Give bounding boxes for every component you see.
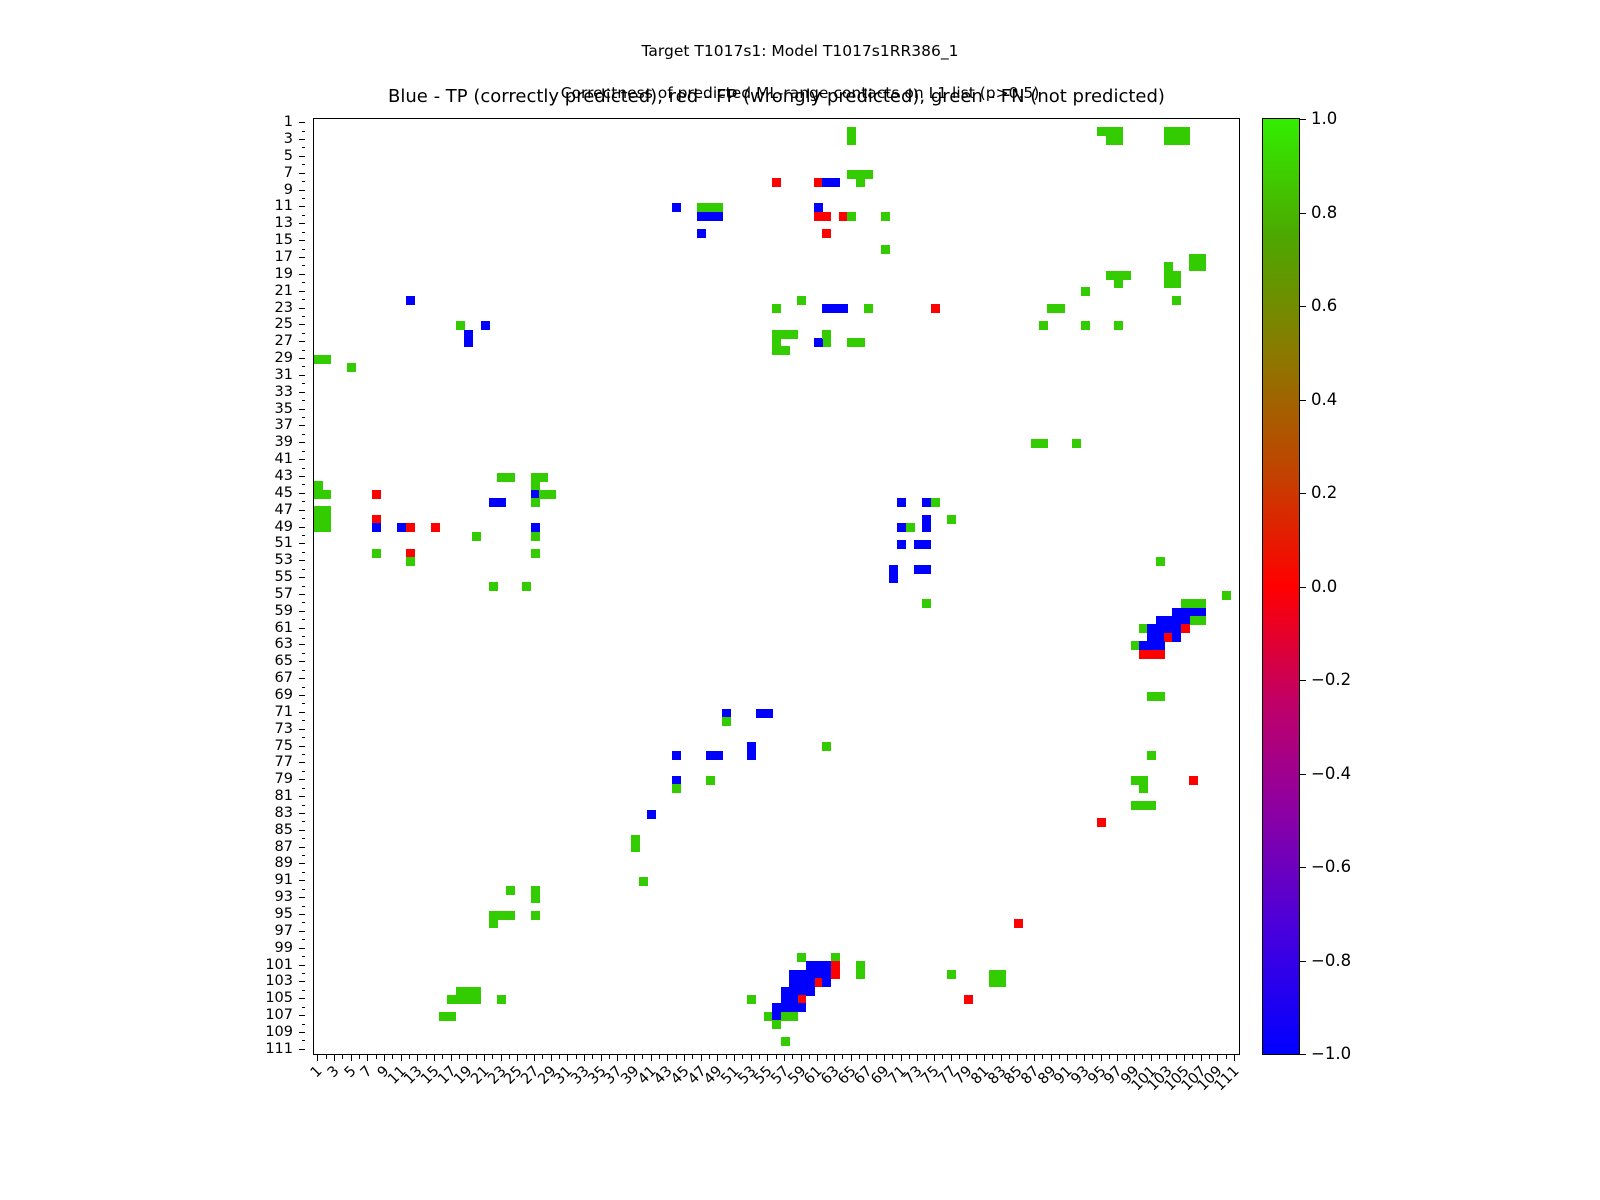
contact-cell-tp [747,751,756,760]
y-axis-tick-label: 5 [0,149,293,164]
y-axis-tick-label: 101 [0,957,293,972]
y-axis-tick-label: 71 [0,705,293,720]
contact-cell-fn [856,178,865,187]
contact-cell-fp [772,178,781,187]
y-axis-tick [299,628,305,629]
y-axis-tick-label: 23 [0,300,293,315]
contact-cell-tp [1172,633,1181,642]
contact-cell-fn [347,363,356,372]
y-axis-tick [302,350,306,351]
y-axis-tick [302,147,306,148]
figure-canvas: Target T1017s1: Model T1017s1RR386_1 Cor… [0,0,1600,1200]
contact-cell-fn [1081,321,1090,330]
contact-cell-tp [922,540,931,549]
y-axis-tick [302,838,306,839]
y-axis-tick [299,392,305,393]
y-axis-tick [299,510,305,511]
contact-cell-fn [472,532,481,541]
y-axis-tick-label: 83 [0,806,293,821]
colorbar-tick-label: 0.0 [1311,578,1337,595]
contact-cell-fn [856,338,865,347]
y-axis-tick [302,872,306,873]
contact-cell-fn [797,953,806,962]
y-axis-tick-label: 111 [0,1042,293,1057]
y-axis-tick-label: 93 [0,890,293,905]
y-axis-tick-label: 67 [0,671,293,686]
contact-cell-fn [706,776,715,785]
contact-cell-fn [906,523,915,532]
y-axis-tick [299,543,305,544]
y-axis-tick-label: 89 [0,856,293,871]
y-axis-tick [299,274,305,275]
y-axis-tick [299,611,305,612]
y-axis-tick [302,501,306,502]
contact-cell-tp [647,810,656,819]
contact-cell-fn [1181,136,1190,145]
contact-cell-tp [406,296,415,305]
contact-cell-fn [1114,136,1123,145]
y-axis-tick [299,1049,305,1050]
colorbar-tick [1300,961,1306,962]
contact-cell-fn [947,515,956,524]
contact-cell-fn [789,330,798,339]
contact-cell-fp [931,304,940,313]
contact-cell-fn [472,995,481,1004]
colorbar-tick-label: −0.8 [1311,952,1351,969]
y-axis-tick [302,299,306,300]
y-axis-tick [302,889,306,890]
y-axis-tick-label: 103 [0,974,293,989]
contact-cell-fn [1172,279,1181,288]
y-axis-tick-label: 53 [0,553,293,568]
colorbar-tick [1300,400,1306,401]
contact-cell-fn [639,877,648,886]
contact-cell-tp [806,987,815,996]
y-axis-tick [302,602,306,603]
y-axis-tick [302,518,306,519]
y-axis-tick [299,644,305,645]
contact-cell-tp [897,540,906,549]
y-axis-tick [302,333,306,334]
contact-cell-fn [406,557,415,566]
contact-cell-fn [506,911,515,920]
contact-cell-fn [1222,591,1231,600]
contact-cell-fn [1197,616,1206,625]
contact-cell-fn [997,978,1006,987]
y-axis-tick [299,678,305,679]
y-axis-tick [299,1032,305,1033]
contact-cell-fn [1056,304,1065,313]
contact-cell-fn [772,304,781,313]
y-axis-tick [302,821,306,822]
contact-cell-tp [714,751,723,760]
contact-map-cells [314,119,1239,1054]
y-axis-tick [302,990,306,991]
y-axis-tick [302,249,306,250]
y-axis-tick-label: 65 [0,654,293,669]
y-axis-tick [299,931,305,932]
y-axis-tick-label: 51 [0,536,293,551]
y-axis-tick [299,425,305,426]
y-axis-tick [299,998,305,999]
y-axis-tick [302,232,306,233]
contact-cell-fp [1014,919,1023,928]
y-axis-tick-label: 3 [0,132,293,147]
y-axis-tick-label: 85 [0,823,293,838]
colorbar-tick-label: −0.4 [1311,765,1351,782]
figure-suptitle: Target T1017s1: Model T1017s1RR386_1 Cor… [0,20,1600,125]
contact-cell-fn [922,599,931,608]
contact-cell-fn [864,304,873,313]
y-axis-tick [302,131,306,132]
contact-cell-fn [856,970,865,979]
y-axis-tick [299,459,305,460]
y-axis-tick [302,569,306,570]
y-axis-tick-label: 55 [0,570,293,585]
y-axis-tick [302,737,306,738]
y-axis-tick [299,897,305,898]
y-axis-tick [299,291,305,292]
contact-cell-tp [822,978,831,987]
contact-cell-fn [781,346,790,355]
contact-cell-tp [839,304,848,313]
contact-cell-fn [864,170,873,179]
y-axis-tick-label: 13 [0,216,293,231]
contact-cell-tp [372,523,381,532]
contact-cell-fn [1139,784,1148,793]
y-axis-tick [299,813,305,814]
contact-cell-fn [822,330,831,339]
y-axis-tick [299,156,305,157]
y-axis-tick [299,914,305,915]
contact-cell-tp [672,203,681,212]
y-axis-tick [302,805,306,806]
y-axis-tick-label: 17 [0,250,293,265]
contact-cell-tp [814,338,823,347]
y-axis-tick [299,577,305,578]
y-axis-tick-label: 11 [0,199,293,214]
contact-cell-fn [931,498,940,507]
contact-cell-fn [631,843,640,852]
y-axis-tick [302,771,306,772]
y-axis-tick [299,358,305,359]
contact-cell-fn [1114,279,1123,288]
y-axis-tick [302,1007,306,1008]
y-axis-tick [302,265,306,266]
contact-cell-fp [831,970,840,979]
contact-cell-tp [497,498,506,507]
y-axis-tick [302,484,306,485]
contact-cell-fp [822,212,831,221]
colorbar-tick [1300,119,1306,120]
y-axis-tick-label: 59 [0,604,293,619]
contact-cell-fn [881,212,890,221]
contact-cell-fn [822,338,831,347]
contact-cell-fn [1147,751,1156,760]
colorbar-tick-label: 0.4 [1311,391,1337,408]
y-axis-tick-label: 39 [0,435,293,450]
y-axis-tick [302,720,306,721]
y-axis-tick [299,190,305,191]
y-axis-tick [299,206,305,207]
y-axis-tick-label: 15 [0,233,293,248]
contact-cell-fn [1172,296,1181,305]
y-axis-tick [302,788,306,789]
colorbar-tick-label: −0.6 [1311,859,1351,876]
contact-cell-tp [672,751,681,760]
y-axis-tick [299,779,305,780]
colorbar-gradient [1263,119,1299,1054]
contact-cell-fn [372,549,381,558]
y-axis-tick [302,956,306,957]
contact-cell-fn [489,582,498,591]
colorbar-tick-label: 0.8 [1311,204,1337,221]
colorbar[interactable] [1262,118,1300,1055]
y-axis-tick [299,527,305,528]
contact-cell-tp [481,321,490,330]
y-axis-tick [302,973,306,974]
contact-cell-fn [497,995,506,1004]
contact-cell-fn [881,245,890,254]
colorbar-tick [1300,680,1306,681]
y-axis-tick [302,906,306,907]
y-axis-tick [299,729,305,730]
y-axis-tick-label: 57 [0,587,293,602]
colorbar-tick-label: 0.2 [1311,485,1337,502]
colorbar-tick [1300,213,1306,214]
contact-cell-fn [1156,557,1165,566]
contact-cell-tp [697,229,706,238]
x-axis-labels: 1357911131517192123252729313335373941434… [313,1056,1240,1136]
contact-cell-fn [1147,801,1156,810]
y-axis-tick [302,653,306,654]
contact-cell-fn [947,970,956,979]
y-axis-tick-label: 9 [0,182,293,197]
contact-cell-fn [531,911,540,920]
y-axis-tick [299,863,305,864]
contact-cell-fn [1072,439,1081,448]
y-axis-tick [299,965,305,966]
y-axis-tick-label: 27 [0,334,293,349]
y-axis-tick [302,636,306,637]
contact-cell-tp [797,1003,806,1012]
contact-cell-fp [1097,818,1106,827]
y-axis-tick [299,1015,305,1016]
y-axis-tick [299,442,305,443]
y-axis-tick-label: 37 [0,418,293,433]
y-axis-tick-label: 75 [0,738,293,753]
suptitle-line-1: Target T1017s1: Model T1017s1RR386_1 [0,41,1600,62]
contact-cell-tp [464,338,473,347]
y-axis-tick-label: 97 [0,924,293,939]
y-axis-tick-label: 77 [0,755,293,770]
contact-cell-tp [764,709,773,718]
contact-cell-fp [1189,776,1198,785]
contact-cell-fn [547,490,556,499]
contact-cell-tp [714,212,723,221]
contact-cell-fn [1039,321,1048,330]
y-axis-tick [299,240,305,241]
contact-cell-fn [506,473,515,482]
y-axis-tick-label: 41 [0,452,293,467]
y-axis-tick [302,366,306,367]
y-axis-tick-label: 25 [0,317,293,332]
y-axis-tick [302,164,306,165]
contact-cell-fn [797,296,806,305]
contact-cell-fn [847,212,856,221]
y-axis-tick [299,493,305,494]
contact-cell-fn [322,355,331,364]
y-axis-tick [302,586,306,587]
y-axis-tick [302,670,306,671]
y-axis-tick [299,476,305,477]
y-axis-tick [299,341,305,342]
colorbar-tick [1300,493,1306,494]
y-axis-tick [299,560,305,561]
contact-cell-tp [922,565,931,574]
contact-cell-fn [531,549,540,558]
y-axis-tick [299,375,305,376]
y-axis-tick [299,594,305,595]
contact-cell-fn [822,742,831,751]
contact-cell-fn [322,523,331,532]
contact-cell-fn [1081,287,1090,296]
contact-cell-fn [747,995,756,1004]
contact-cell-fp [406,523,415,532]
y-axis-tick [299,695,305,696]
contact-cell-fn [1039,439,1048,448]
colorbar-tick [1300,774,1306,775]
contact-cell-fn [447,1012,456,1021]
contact-cell-fn [539,473,548,482]
y-axis-tick-label: 31 [0,368,293,383]
y-axis-tick-label: 49 [0,519,293,534]
y-axis-tick [299,409,305,410]
y-axis-tick [299,762,305,763]
contact-cell-fn [506,886,515,895]
y-axis-tick [302,1024,306,1025]
y-axis-tick [302,181,306,182]
x-axis-tick-label: 3 [325,1064,342,1081]
y-axis-tick [299,324,305,325]
y-axis-tick-label: 105 [0,991,293,1006]
y-axis-tick [299,847,305,848]
contact-cell-fn [531,498,540,507]
contact-cell-fn [322,490,331,499]
y-axis-tick [302,939,306,940]
contact-cell-fn [789,1012,798,1021]
y-axis-tick [302,552,306,553]
y-axis-tick [299,712,305,713]
y-axis-tick [299,257,305,258]
y-axis-tick [302,468,306,469]
contact-cell-fn [847,136,856,145]
contact-cell-fn [772,1020,781,1029]
y-axis-tick [302,198,306,199]
y-axis-tick [299,948,305,949]
y-axis-tick [302,434,306,435]
y-axis-tick-label: 63 [0,637,293,652]
y-axis-tick-label: 1 [0,115,293,130]
y-axis-tick [299,880,305,881]
y-axis-tick-label: 29 [0,351,293,366]
colorbar-tick-label: 0.6 [1311,298,1337,315]
y-axis-tick [302,451,306,452]
y-axis-tick-label: 95 [0,907,293,922]
y-axis-tick-label: 33 [0,385,293,400]
contact-cell-tp [897,498,906,507]
colorbar-tick [1300,867,1306,868]
y-axis-tick [302,417,306,418]
y-axis-tick [302,282,306,283]
contact-map-plot[interactable] [313,118,1240,1055]
y-axis-tick-label: 87 [0,839,293,854]
y-axis-tick-label: 99 [0,940,293,955]
y-axis-tick-label: 45 [0,486,293,501]
axes-title: Blue - TP (correctly predicted), red - F… [313,86,1240,107]
colorbar-tick-labels: 1.00.80.60.40.20.0−0.2−0.4−0.6−0.8−1.0 [1300,118,1370,1055]
y-axis-tick [302,703,306,704]
y-axis-tick-label: 81 [0,789,293,804]
contact-cell-fn [1114,321,1123,330]
y-axis-tick-label: 19 [0,267,293,282]
contact-cell-tp [922,523,931,532]
colorbar-tick [1300,1054,1306,1055]
contact-cell-tp [831,178,840,187]
y-axis-tick [299,173,305,174]
contact-cell-fn [1197,262,1206,271]
y-axis-tick [299,981,305,982]
y-axis-tick-label: 107 [0,1008,293,1023]
contact-cell-fn [522,582,531,591]
contact-cell-fp [822,229,831,238]
contact-cell-fn [1122,271,1131,280]
y-axis-tick [302,922,306,923]
y-axis-tick [302,1040,306,1041]
contact-cell-fn [781,1037,790,1046]
x-axis-tick-label: 1 [309,1064,326,1081]
y-axis-tick [302,687,306,688]
contact-cell-fp [431,523,440,532]
contact-cell-fp [1181,624,1190,633]
y-axis-tick-label: 7 [0,166,293,181]
contact-cell-fn [722,717,731,726]
y-axis-tick [302,855,306,856]
contact-cell-fp [372,490,381,499]
colorbar-tick-label: 1.0 [1311,111,1337,128]
contact-cell-fp [1156,650,1165,659]
contact-cell-fn [489,919,498,928]
y-axis-tick [302,400,306,401]
contact-cell-fp [964,995,973,1004]
colorbar-tick-label: −0.2 [1311,672,1351,689]
y-axis-tick-label: 91 [0,873,293,888]
y-axis-tick-label: 43 [0,469,293,484]
y-axis-tick-label: 69 [0,688,293,703]
y-axis-tick-label: 35 [0,401,293,416]
y-axis-tick [302,316,306,317]
y-axis-tick-label: 21 [0,283,293,298]
y-axis-tick [302,754,306,755]
y-axis-tick-label: 61 [0,620,293,635]
contact-cell-fn [672,784,681,793]
y-axis-tick [299,661,305,662]
y-axis-tick [299,746,305,747]
contact-cell-fn [531,532,540,541]
y-axis-tick [302,215,306,216]
contact-cell-tp [889,574,898,583]
y-axis-tick-label: 109 [0,1025,293,1040]
